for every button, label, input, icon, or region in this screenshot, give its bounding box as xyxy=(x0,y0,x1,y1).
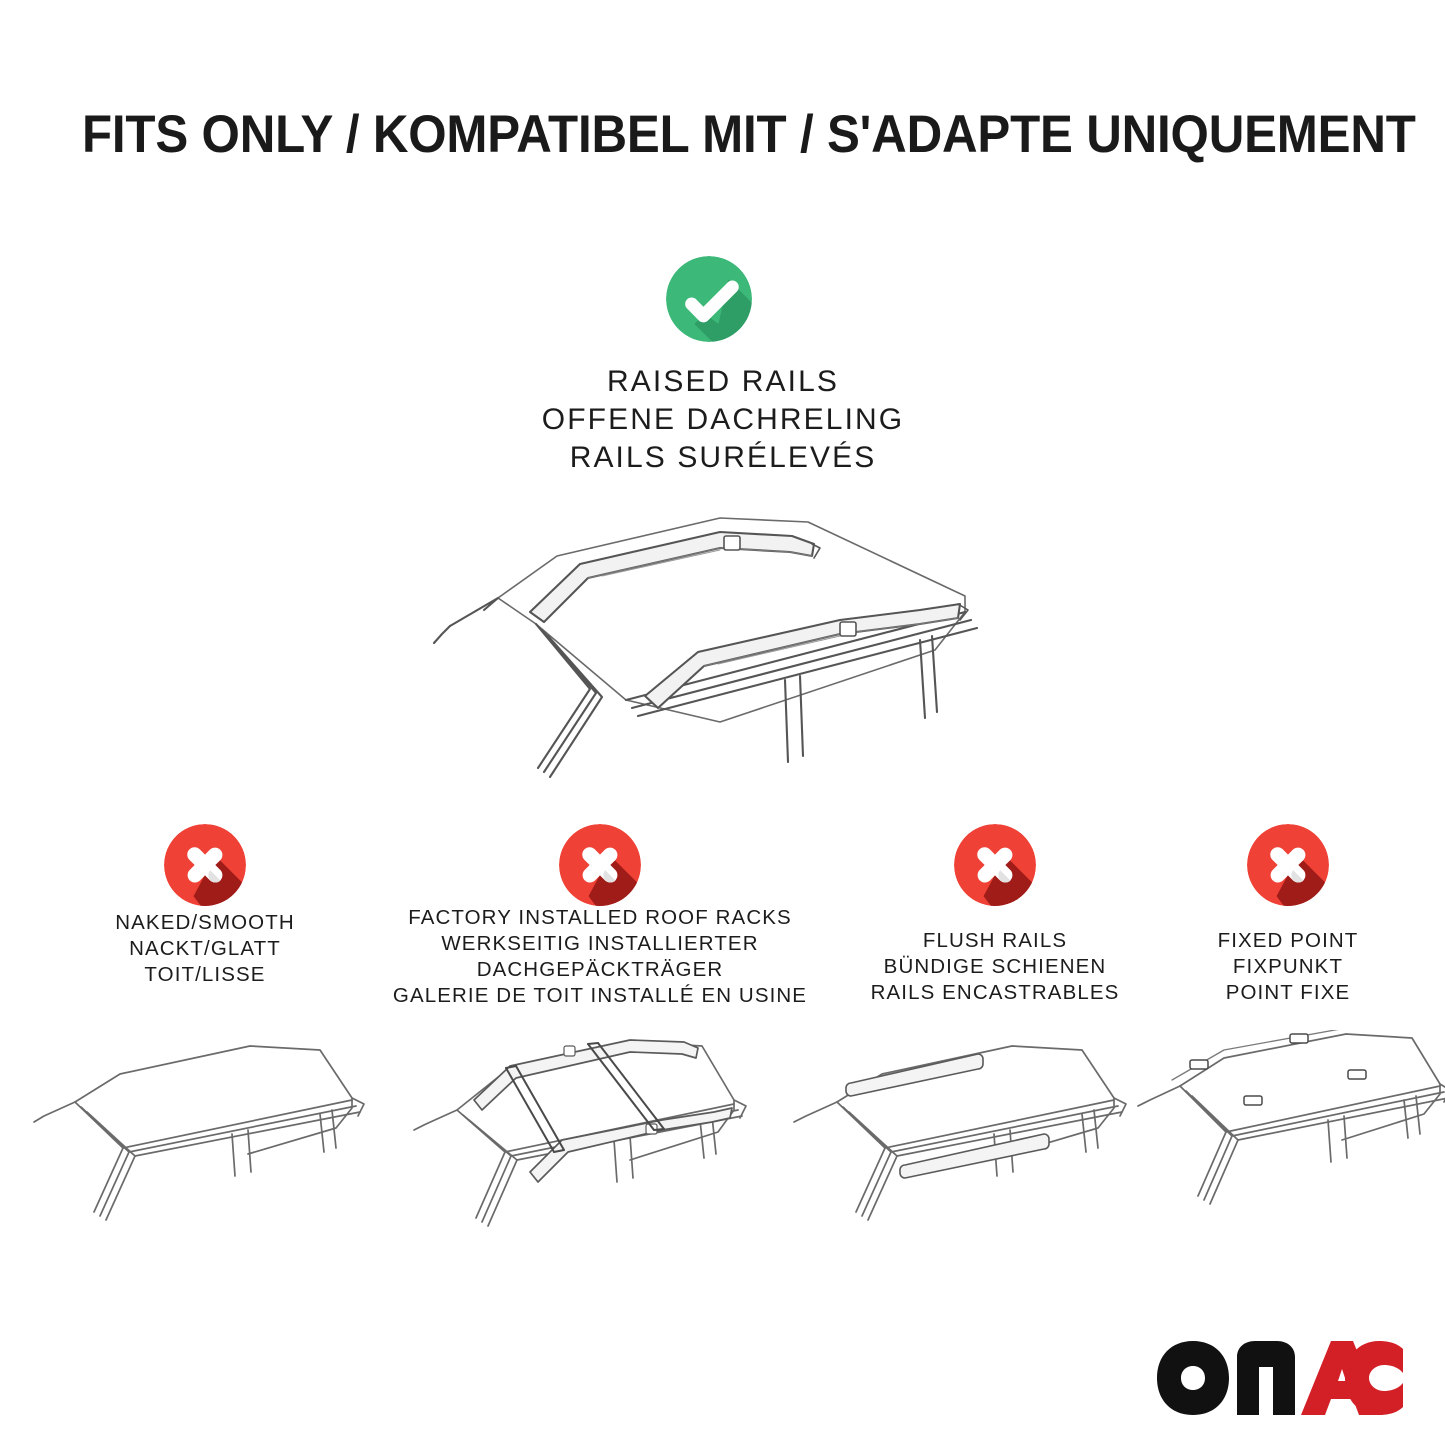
incompatible-caption-flush-rails: FLUSH RAILS BÜNDIGE SCHIENEN RAILS ENCAS… xyxy=(835,928,1155,1006)
compatible-line-fr: RAILS SURÉLEVÉS xyxy=(423,439,1023,477)
check-circle-icon xyxy=(666,256,752,342)
compatible-caption: RAISED RAILS OFFENE DACHRELING RAILS SUR… xyxy=(423,363,1023,477)
caption-line-fr: GALERIE DE TOIT INSTALLÉ EN USINE xyxy=(350,983,850,1009)
car-roof-fixed-point-illustration xyxy=(1132,1030,1445,1250)
caption-line-fr: TOIT/LISSE xyxy=(45,962,365,988)
caption-line-en: FACTORY INSTALLED ROOF RACKS xyxy=(350,905,850,931)
compatible-line-de: OFFENE DACHRELING xyxy=(423,401,1023,439)
cross-circle-icon xyxy=(1247,824,1329,906)
omac-logo xyxy=(1155,1339,1405,1417)
caption-line-de: NACKT/GLATT xyxy=(45,936,365,962)
cross-circle-icon xyxy=(559,824,641,906)
incompatible-caption-factory-racks: FACTORY INSTALLED ROOF RACKS WERKSEITIG … xyxy=(350,905,850,1009)
incompatible-caption-fixed-point: FIXED POINT FIXPUNKT POINT FIXE xyxy=(1138,928,1438,1006)
caption-line-en: NAKED/SMOOTH xyxy=(45,910,365,936)
car-roof-factory-racks-illustration xyxy=(402,1012,762,1252)
caption-line-de: BÜNDIGE SCHIENEN xyxy=(835,954,1155,980)
caption-line-de: FIXPUNKT xyxy=(1138,954,1438,980)
caption-line-en: FIXED POINT xyxy=(1138,928,1438,954)
incompatible-caption-naked: NAKED/SMOOTH NACKT/GLATT TOIT/LISSE xyxy=(45,910,365,988)
car-roof-naked-illustration xyxy=(20,1030,380,1250)
fitment-compatibility-graphic: FITS ONLY / KOMPATIBEL MIT / S'ADAPTE UN… xyxy=(0,0,1445,1445)
caption-line-de-1: WERKSEITIG INSTALLIERTER xyxy=(350,931,850,957)
cross-circle-icon xyxy=(954,824,1036,906)
page-title: FITS ONLY / KOMPATIBEL MIT / S'ADAPTE UN… xyxy=(82,104,1282,166)
caption-line-fr: POINT FIXE xyxy=(1138,980,1438,1006)
car-roof-raised-rails-illustration xyxy=(420,500,1030,800)
car-roof-flush-rails-illustration xyxy=(782,1030,1142,1250)
caption-line-de-2: DACHGEPÄCKTRÄGER xyxy=(350,957,850,983)
caption-line-fr: RAILS ENCASTRABLES xyxy=(835,980,1155,1006)
compatible-line-en: RAISED RAILS xyxy=(423,363,1023,401)
caption-line-en: FLUSH RAILS xyxy=(835,928,1155,954)
cross-circle-icon xyxy=(164,824,246,906)
